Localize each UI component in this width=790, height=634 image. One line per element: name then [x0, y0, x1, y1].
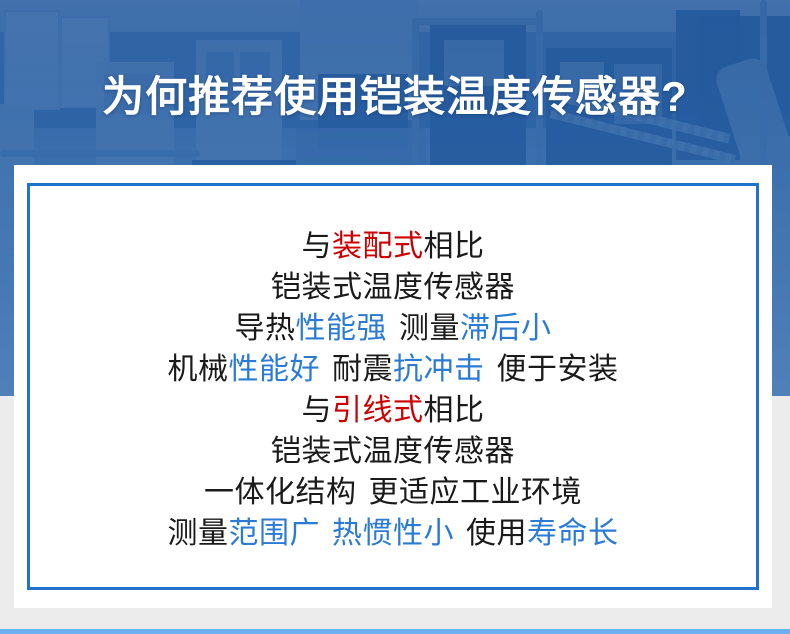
text-segment-black: 测量	[399, 312, 460, 345]
bottom-blue-strip	[0, 629, 790, 634]
content-frame-border: 与装配式相比 铠装式温度传感器 导热性能强测量滞后小 机械性能好耐震抗冲击便于安…	[27, 183, 759, 590]
feature-line-8: 测量范围广热惯性小使用寿命长	[30, 513, 756, 554]
product-detail-page: 为何推荐使用铠装温度传感器? 与装配式相比 铠装式温度传感器 导热性能强测量滞后…	[0, 0, 790, 634]
text-segment-black: 导热	[235, 312, 296, 345]
feature-line-3: 导热性能强测量滞后小	[30, 308, 756, 349]
text-segment-blue: 性能好	[229, 353, 321, 386]
content-panel: 与装配式相比 铠装式温度传感器 导热性能强测量滞后小 机械性能好耐震抗冲击便于安…	[14, 165, 772, 608]
feature-line-4: 机械性能好耐震抗冲击便于安装	[30, 349, 756, 390]
text-segment-black: 相比	[424, 394, 485, 427]
text-segment-red: 装配式	[332, 230, 424, 263]
text-segment-blue: 性能强	[296, 312, 388, 345]
text-segment-black: 测量	[168, 517, 229, 550]
feature-text-block: 与装配式相比 铠装式温度传感器 导热性能强测量滞后小 机械性能好耐震抗冲击便于安…	[30, 226, 756, 554]
text-segment-red: 引线式	[332, 394, 424, 427]
text-segment-black: 铠装式温度传感器	[271, 435, 515, 468]
feature-line-6: 铠装式温度传感器	[30, 431, 756, 472]
text-segment-black: 与	[302, 394, 333, 427]
text-segment-black: 便于安装	[497, 353, 619, 386]
feature-line-5: 与引线式相比	[30, 390, 756, 431]
bottom-gray-strip	[0, 608, 790, 629]
page-title: 为何推荐使用铠装温度传感器?	[0, 72, 790, 122]
text-segment-black: 相比	[424, 230, 485, 263]
text-segment-blue: 热惯性小	[332, 517, 454, 550]
text-segment-black: 机械	[168, 353, 229, 386]
text-segment-black: 使用	[466, 517, 527, 550]
text-segment-blue: 寿命长	[527, 517, 619, 550]
text-segment-black: 耐震	[332, 353, 393, 386]
text-segment-black: 更适应工业环境	[369, 476, 583, 509]
text-segment-blue: 范围广	[229, 517, 321, 550]
text-segment-black: 铠装式温度传感器	[271, 271, 515, 304]
text-segment-blue: 滞后小	[460, 312, 552, 345]
feature-line-1: 与装配式相比	[30, 226, 756, 267]
feature-line-7: 一体化结构更适应工业环境	[30, 472, 756, 513]
text-segment-black: 与	[302, 230, 333, 263]
text-segment-blue: 抗冲击	[393, 353, 485, 386]
feature-line-2: 铠装式温度传感器	[30, 267, 756, 308]
text-segment-black: 一体化结构	[204, 476, 357, 509]
